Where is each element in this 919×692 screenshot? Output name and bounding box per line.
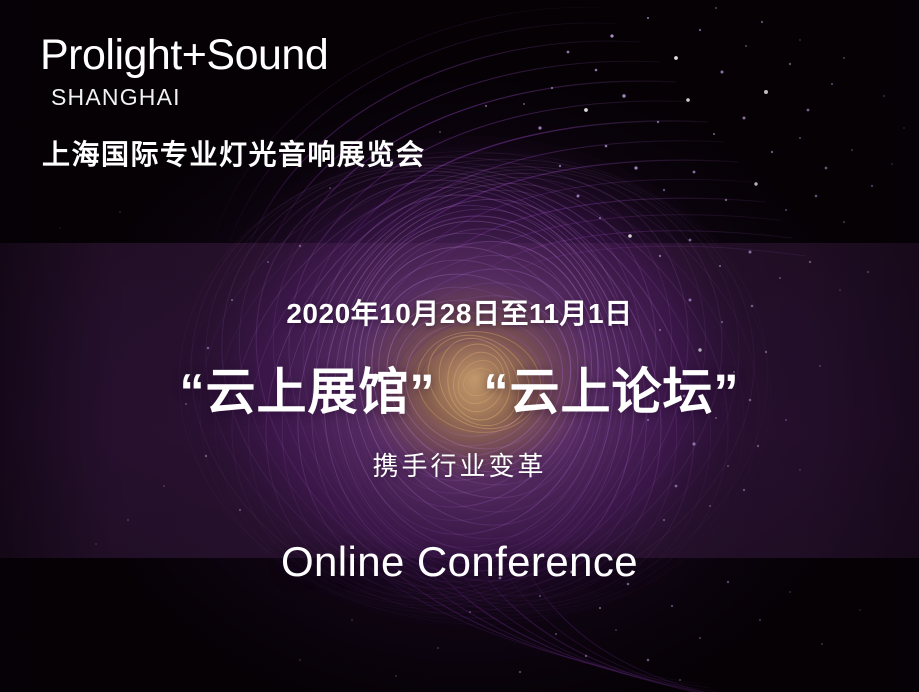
event-date: 2020年10月28日至11月1日 [0,292,919,332]
event-logo: Prolight+Sound SHANGHAI 上海国际专业灯光音响展览会 [40,33,426,173]
english-subtitle: Online Conference [0,538,919,586]
headline-cloud-expo: “云上展馆” [180,364,436,420]
headline-cloud-forum: “云上论坛” [484,364,740,420]
brand-title: Prolight+Sound [40,33,426,78]
headline-row: “云上展馆”“云上论坛” [0,352,919,424]
brand-city: SHANGHAI [51,84,426,111]
main-announcement: 2020年10月28日至11月1日 “云上展馆”“云上论坛” 携手行业变革 [0,292,919,483]
event-tagline: 携手行业变革 [0,446,919,483]
brand-chinese-name: 上海国际专业灯光音响展览会 [42,133,426,173]
poster-canvas: Prolight+Sound SHANGHAI 上海国际专业灯光音响展览会 20… [0,0,919,692]
